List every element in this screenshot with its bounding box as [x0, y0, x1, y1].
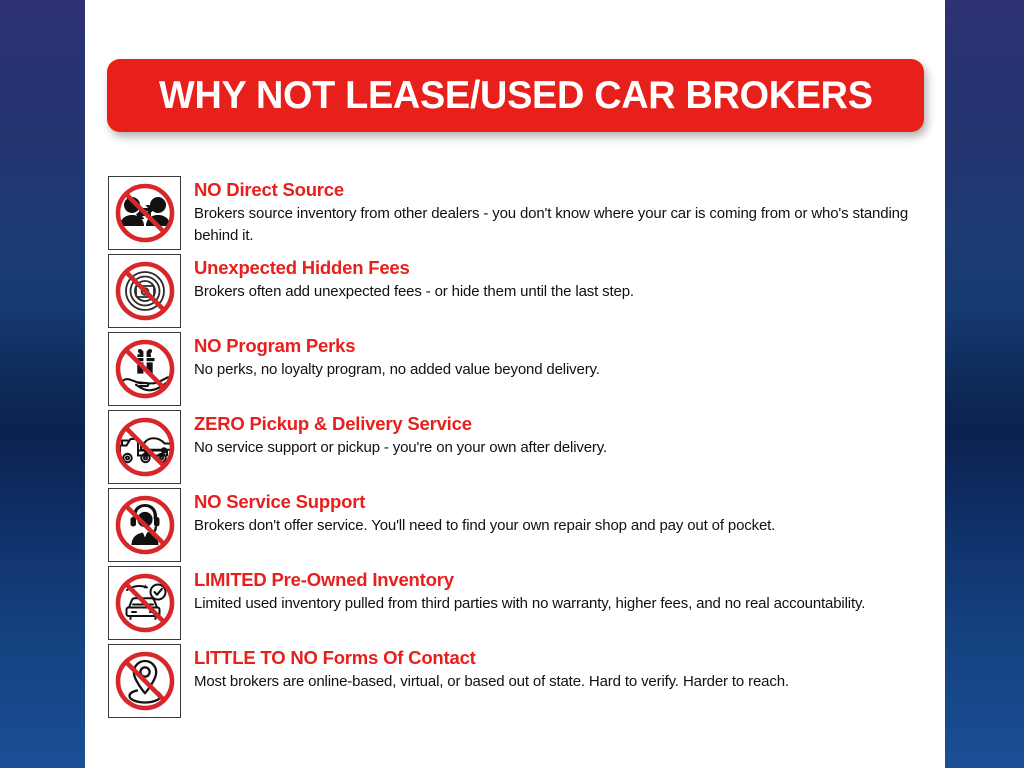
no-direct-source-icon — [108, 176, 181, 250]
list-item-title: LITTLE TO NO Forms Of Contact — [194, 647, 928, 669]
list-item-title: NO Service Support — [194, 491, 928, 513]
list-item-text: NO Direct Source Brokers source inventor… — [194, 179, 928, 246]
list-item-title: ZERO Pickup & Delivery Service — [194, 413, 928, 435]
reasons-list: NO Direct Source Brokers source inventor… — [108, 176, 928, 718]
list-item-text: NO Service Support Brokers don't offer s… — [194, 491, 928, 537]
list-item: NO Direct Source Brokers source inventor… — [108, 176, 928, 254]
list-item: NO Program Perks No perks, no loyalty pr… — [108, 332, 928, 410]
list-item-description: Limited used inventory pulled from third… — [194, 593, 919, 615]
content-card: WHY NOT LEASE/USED CAR BROKERS — [85, 0, 945, 768]
list-item: NO Service Support Brokers don't offer s… — [108, 488, 928, 566]
page-title: WHY NOT LEASE/USED CAR BROKERS — [159, 74, 873, 118]
list-item-title: NO Direct Source — [194, 179, 928, 201]
no-hidden-fees-icon — [108, 254, 181, 328]
list-item: ZERO Pickup & Delivery Service No servic… — [108, 410, 928, 488]
list-item-title: LIMITED Pre-Owned Inventory — [194, 569, 928, 591]
list-item-title: Unexpected Hidden Fees — [194, 257, 928, 279]
no-service-support-icon — [108, 488, 181, 562]
list-item-description: Brokers don't offer service. You'll need… — [194, 515, 919, 537]
no-preowned-inventory-icon — [108, 566, 181, 640]
no-program-perks-icon — [108, 332, 181, 406]
no-contact-forms-icon — [108, 644, 181, 718]
list-item: Unexpected Hidden Fees Brokers often add… — [108, 254, 928, 332]
list-item-text: NO Program Perks No perks, no loyalty pr… — [194, 335, 928, 381]
list-item-description: Brokers often add unexpected fees - or h… — [194, 281, 919, 303]
list-item-description: Most brokers are online-based, virtual, … — [194, 671, 919, 693]
list-item-description: Brokers source inventory from other deal… — [194, 203, 919, 246]
list-item-text: Unexpected Hidden Fees Brokers often add… — [194, 257, 928, 303]
title-banner: WHY NOT LEASE/USED CAR BROKERS — [107, 59, 924, 132]
list-item: LIMITED Pre-Owned Inventory Limited used… — [108, 566, 928, 644]
list-item-text: ZERO Pickup & Delivery Service No servic… — [194, 413, 928, 459]
list-item-text: LIMITED Pre-Owned Inventory Limited used… — [194, 569, 928, 615]
list-item-text: LITTLE TO NO Forms Of Contact Most broke… — [194, 647, 928, 693]
list-item-title: NO Program Perks — [194, 335, 928, 357]
list-item-description: No service support or pickup - you're on… — [194, 437, 919, 459]
list-item: LITTLE TO NO Forms Of Contact Most broke… — [108, 644, 928, 718]
no-pickup-delivery-icon — [108, 410, 181, 484]
list-item-description: No perks, no loyalty program, no added v… — [194, 359, 919, 381]
